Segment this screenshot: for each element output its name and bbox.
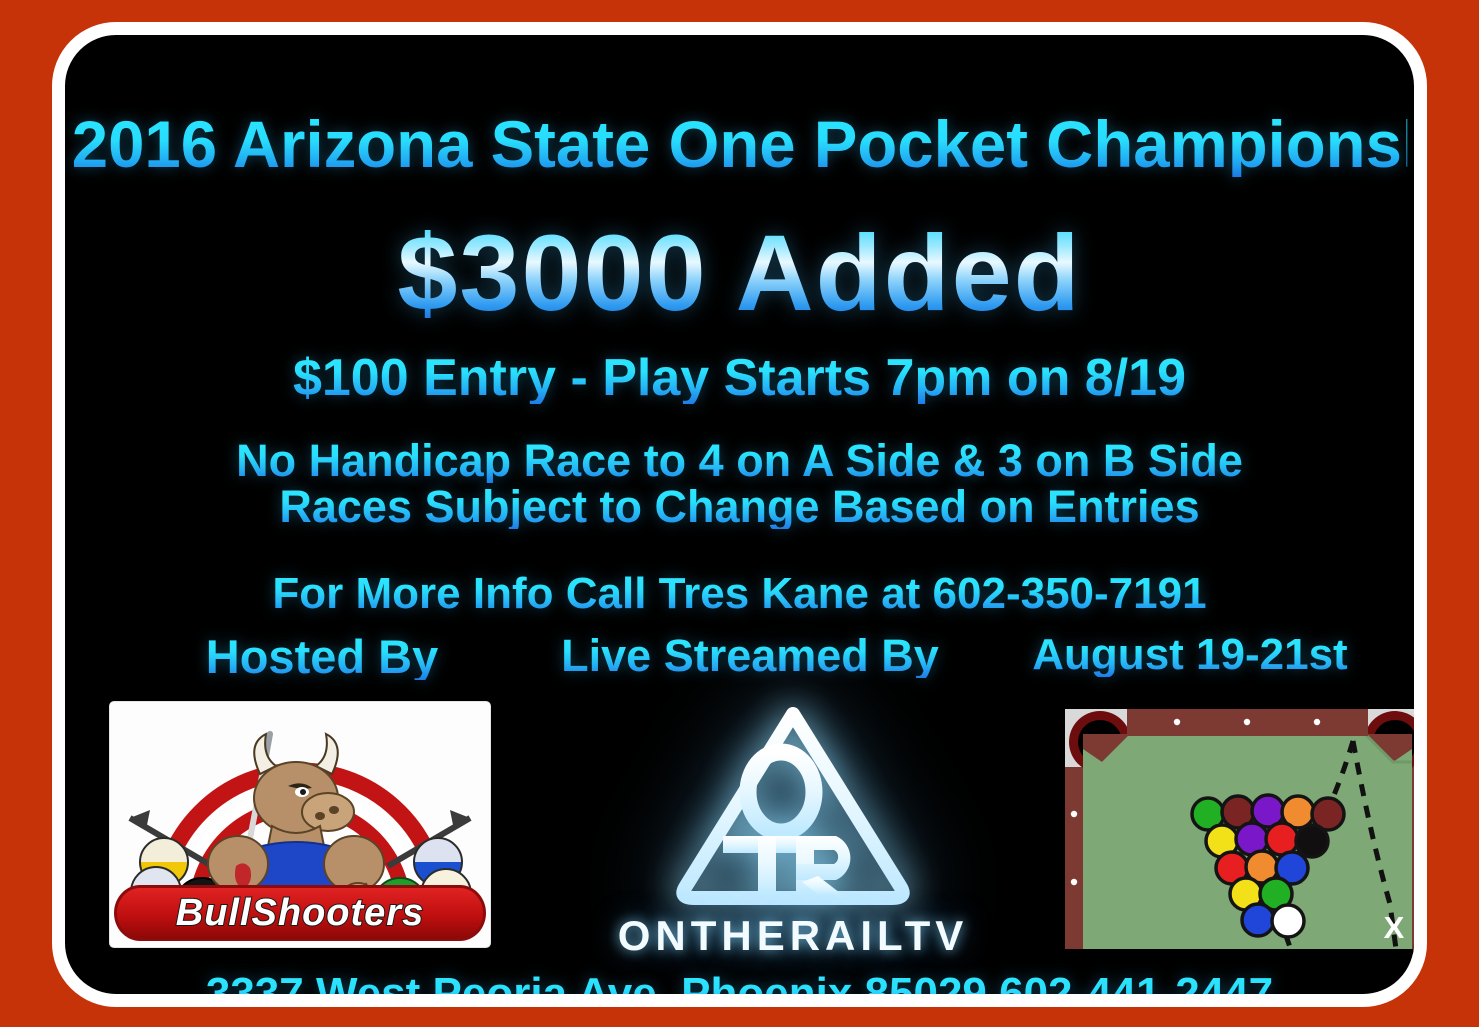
ontherailtv-logo: ONTHERAILTV <box>583 698 1003 968</box>
bullshooters-wordmark: BullShooters <box>117 892 483 935</box>
page-title: 2016 Arizona State One Pocket Championsh… <box>72 111 1408 177</box>
venue-address: 3337 West Peoria Ave. Phoenix 85029 602-… <box>65 972 1414 1007</box>
heading-live-streamed-by-wrap: Live Streamed By <box>555 633 945 678</box>
bullshooters-banner: BullShooters <box>114 885 486 941</box>
poster-frame: 2016 Arizona State One Pocket Championsh… <box>52 22 1427 1007</box>
heading-event-dates: August 19-21st <box>995 633 1385 677</box>
entry-line: $100 Entry - Play Starts 7pm on 8/19 <box>65 352 1414 404</box>
otr-wordmark: ONTHERAILTV <box>583 912 1003 960</box>
sponsor-headings-row: Hosted By Live Streamed By August 19-21s… <box>65 633 1414 693</box>
heading-hosted-by: Hosted By <box>127 633 517 680</box>
race-format-line-1: No Handicap Race to 4 on A Side & 3 on B… <box>65 438 1414 483</box>
heading-dates-wrap: August 19-21st <box>995 633 1385 677</box>
bullshooters-logo: 8 9 <box>110 702 490 947</box>
heading-hosted-by-wrap: Hosted By <box>127 633 517 680</box>
race-format-line-2: Races Subject to Change Based on Entries <box>65 484 1414 529</box>
poster-root: 2016 Arizona State One Pocket Championsh… <box>0 0 1479 1027</box>
poster-content: 2016 Arizona State One Pocket Championsh… <box>65 35 1414 994</box>
heading-live-streamed-by: Live Streamed By <box>555 633 945 678</box>
logos-row: 8 9 <box>65 698 1414 968</box>
pool-table-diagram: X <box>1060 704 1427 954</box>
prize-amount: $3000 Added <box>65 219 1414 327</box>
one-pocket-table-icon: X <box>1060 704 1427 954</box>
contact-line: For More Info Call Tres Kane at 602-350-… <box>65 572 1414 616</box>
otr-triangle-icon <box>668 700 918 912</box>
table-x-marker: X <box>1384 910 1405 945</box>
